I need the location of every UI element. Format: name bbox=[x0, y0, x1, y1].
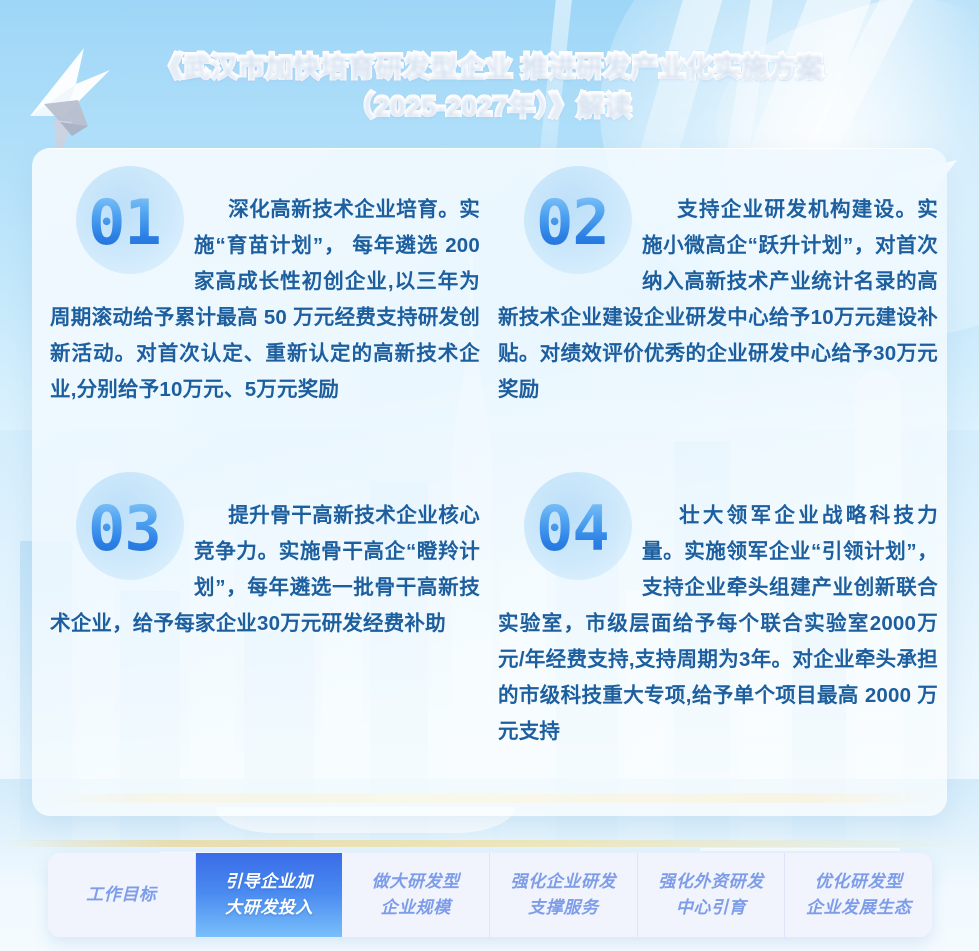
content-card: 01 深化高新技术企业培育。实施“育苗计划”， 每年遴选 200家高成长性初创企… bbox=[32, 148, 947, 816]
page-title: 《武汉市加快培育研发型企业 推进研发产业化实施方案 （2025-2027年）》解… bbox=[0, 48, 979, 126]
bottom-tab-bar: 工作目标 引导企业加 大研发投入 做大研发型 企业规模 强化企业研发 支撑服务 bbox=[48, 853, 932, 937]
block-number-badge: 03 bbox=[62, 494, 194, 586]
page-title-line-2: （2025-2027年）》解读 bbox=[0, 87, 979, 126]
tab-label-line-2: 企业发展生态 bbox=[806, 895, 912, 921]
policy-block-04: 04 壮大领军企业战略科技力量。实施领军企业“引领计划”， 支持企业牵头组建产业… bbox=[498, 498, 938, 750]
tab-strengthen-foreign-rd-centers[interactable]: 强化外资研发 中心引育 bbox=[638, 853, 786, 937]
tab-label-line-1: 工作目标 bbox=[86, 882, 156, 908]
tab-label-line-2: 中心引育 bbox=[658, 895, 764, 921]
block-number-badge: 04 bbox=[510, 494, 642, 586]
tab-label-line-1: 强化外资研发 bbox=[658, 869, 764, 895]
tab-label-line-1: 引导企业加 bbox=[225, 869, 313, 895]
block-number-badge: 02 bbox=[510, 188, 642, 280]
block-number: 02 bbox=[536, 192, 609, 254]
tab-label-line-2: 大研发投入 bbox=[225, 895, 313, 921]
block-number: 01 bbox=[88, 192, 161, 254]
tab-expand-rd-enterprise-scale[interactable]: 做大研发型 企业规模 bbox=[342, 853, 490, 937]
tab-work-goals[interactable]: 工作目标 bbox=[48, 853, 196, 937]
policy-block-01: 01 深化高新技术企业培育。实施“育苗计划”， 每年遴选 200家高成长性初创企… bbox=[50, 192, 480, 408]
bridge-deck bbox=[0, 840, 979, 847]
infographic-page: 《武汉市加快培育研发型企业 推进研发产业化实施方案 （2025-2027年）》解… bbox=[0, 0, 979, 951]
water-line bbox=[700, 848, 900, 851]
policy-block-03: 03 提升骨干高新技术企业核心竞争力。实施骨干高企“瞪羚计划”，每年遴选一批骨干… bbox=[50, 498, 480, 642]
tab-label-line-1: 做大研发型 bbox=[372, 869, 460, 895]
tab-label-line-1: 优化研发型 bbox=[806, 869, 912, 895]
tab-optimize-rd-enterprise-ecosystem[interactable]: 优化研发型 企业发展生态 bbox=[785, 853, 932, 937]
block-number: 04 bbox=[536, 498, 609, 560]
policy-block-02: 02 支持企业研发机构建设。实施小微高企“跃升计划”，对首次纳入高新技术产业统计… bbox=[498, 192, 938, 408]
tab-label-line-1: 强化企业研发 bbox=[511, 869, 617, 895]
tab-increase-rd-investment[interactable]: 引导企业加 大研发投入 bbox=[196, 853, 343, 937]
content-grid: 01 深化高新技术企业培育。实施“育苗计划”， 每年遴选 200家高成长性初创企… bbox=[32, 148, 947, 816]
tab-label-line-2: 支撑服务 bbox=[511, 895, 617, 921]
tab-label-line-2: 企业规模 bbox=[372, 895, 460, 921]
block-number-badge: 01 bbox=[62, 188, 194, 280]
page-title-line-1: 《武汉市加快培育研发型企业 推进研发产业化实施方案 bbox=[0, 48, 979, 87]
block-number: 03 bbox=[88, 498, 161, 560]
tab-strengthen-rd-support-services[interactable]: 强化企业研发 支撑服务 bbox=[490, 853, 638, 937]
